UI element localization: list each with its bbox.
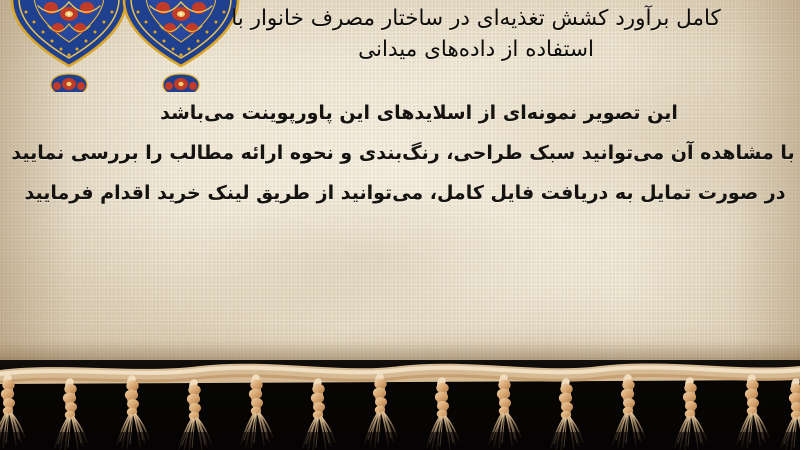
body-line-2: با مشاهده آن می‌توانید سبک طراحی، رنگ‌بن… bbox=[0, 144, 800, 163]
slide-text-layer: کامل برآورد کشش تغذیه‌ای در ساختار مصرف … bbox=[0, 0, 800, 370]
slide-canvas: کامل برآورد کشش تغذیه‌ای در ساختار مصرف … bbox=[0, 0, 800, 450]
slide-body: این تصویر نمونه‌ای از اسلایدهای این پاور… bbox=[0, 104, 800, 203]
slide-title: کامل برآورد کشش تغذیه‌ای در ساختار مصرف … bbox=[170, 4, 782, 65]
body-line-3: در صورت تمایل به دریافت فایل کامل، می‌تو… bbox=[0, 184, 800, 203]
bottom-black-band bbox=[0, 360, 800, 450]
carpet-fringe-tassels-icon bbox=[0, 360, 800, 450]
body-line-1: این تصویر نمونه‌ای از اسلایدهای این پاور… bbox=[0, 104, 800, 123]
